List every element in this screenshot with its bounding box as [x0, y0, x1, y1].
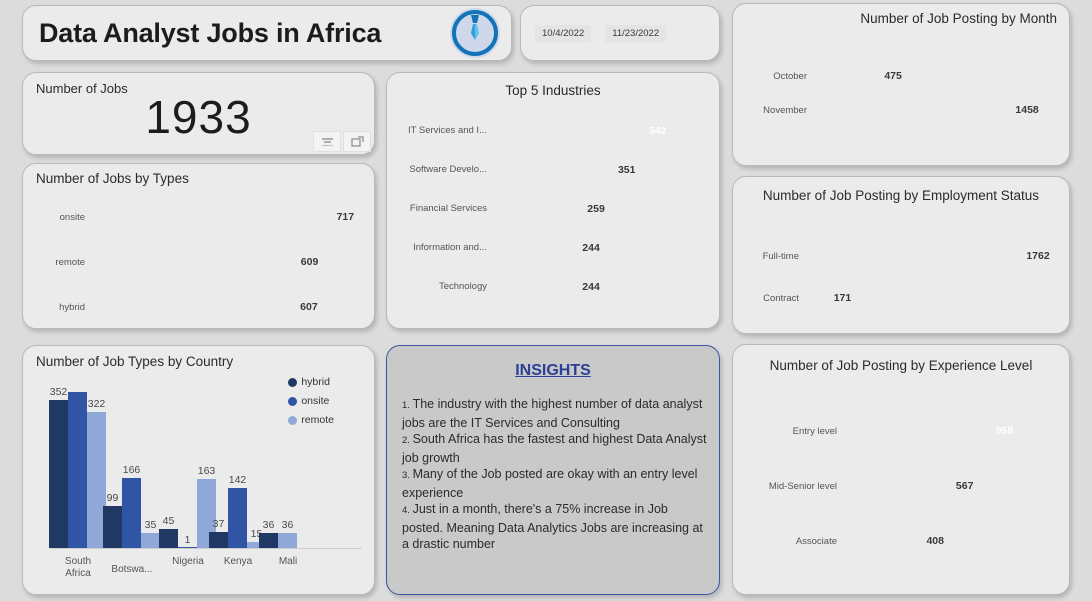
bar-row[interactable]: October475: [741, 62, 1057, 90]
bar-row[interactable]: Mid-Senior level567: [741, 467, 1055, 505]
bar-category-label: onsite: [33, 212, 92, 223]
chart-title: Number of Job Types by Country: [36, 354, 233, 369]
chart-card-job-types-by-country: Number of Job Types by Country hybridons…: [22, 345, 375, 595]
bar-track: 408: [844, 535, 1055, 547]
x-axis-tick-label: Botswa...: [101, 564, 163, 576]
bar-remote[interactable]: [141, 533, 160, 548]
bar-track: 244: [494, 242, 709, 254]
bar-track: 567: [844, 480, 1055, 492]
insight-text: Many of the Job posted are okay with an …: [402, 467, 697, 500]
bar-category-label: IT Services and I...: [395, 125, 494, 136]
x-axis-tick-label: Mali: [257, 556, 319, 568]
bar-category-label: Associate: [741, 536, 844, 547]
bar-category-label: Entry level: [741, 426, 844, 437]
bar-slot: 1: [178, 388, 197, 548]
bar-category-label: Information and...: [395, 242, 494, 253]
start-date-field[interactable]: 10/4/2022: [535, 25, 591, 42]
legend-color-swatch: [288, 378, 297, 387]
chart-plot-area: onsite717remote609hybrid607: [33, 201, 362, 336]
chart-title: Top 5 Industries: [387, 83, 719, 98]
insight-text: The industry with the highest number of …: [402, 397, 702, 430]
chart-title: Number of Job Posting by Employment Stat…: [733, 188, 1069, 203]
bar-slot: 45: [159, 388, 178, 548]
bar-value-label: 542: [649, 125, 667, 137]
bar-value-label: 958: [996, 425, 1014, 437]
insight-text: South Africa has the fastest and highest…: [402, 432, 707, 465]
bar-hybrid[interactable]: [259, 533, 278, 548]
bar-row[interactable]: Technology244: [395, 273, 709, 300]
bar-group: 3714215: [209, 388, 266, 548]
bar-value-label: 352: [50, 386, 68, 398]
bar-row[interactable]: Entry level958: [741, 412, 1055, 450]
chart-card-posting-by-employment-status: Number of Job Posting by Employment Stat…: [732, 176, 1070, 334]
bar-value-label: 35: [145, 519, 157, 531]
bar-category-label: Technology: [395, 281, 494, 292]
bar-slot: 352: [49, 388, 68, 548]
bar-hybrid[interactable]: [103, 506, 122, 548]
bar-track: 475: [814, 70, 1057, 82]
bar-slot: [68, 388, 87, 548]
chart-card-jobs-by-types: Number of Jobs by Types onsite717remote6…: [22, 163, 375, 329]
bar-group: 451163: [159, 388, 216, 548]
x-axis-tick-label: South Africa: [47, 556, 109, 580]
page-title: Data Analyst Jobs in Africa: [39, 18, 449, 49]
bar-value-label: 607: [293, 301, 318, 313]
chart-plot-area: Full-time1762Contract171: [741, 241, 1057, 325]
legend-label: remote: [301, 414, 334, 426]
bar-value-label: 717: [330, 211, 355, 223]
bar-row[interactable]: Financial Services259: [395, 195, 709, 222]
insight-number: 4.: [402, 505, 413, 516]
bar-slot: 36: [259, 388, 278, 548]
bar-row[interactable]: Contract171: [741, 283, 1057, 313]
insight-item: 2. South Africa has the fastest and high…: [402, 431, 707, 466]
bar-row[interactable]: onsite717: [33, 201, 362, 233]
bar-value-label: 99: [107, 492, 119, 504]
filter-icon[interactable]: [313, 131, 341, 152]
chart-title: Number of Jobs by Types: [36, 171, 189, 186]
insight-number: 3.: [402, 470, 413, 481]
kpi-card-number-of-jobs: Number of Jobs 1933: [22, 72, 375, 155]
bar-remote[interactable]: [278, 533, 297, 548]
bar-value-label: 1: [185, 534, 191, 546]
insight-number: 2.: [402, 435, 413, 446]
legend-label: hybrid: [301, 376, 330, 388]
bar-category-label: Financial Services: [395, 203, 494, 214]
bar-value-label: 567: [949, 480, 974, 492]
dashboard-title-card: Data Analyst Jobs in Africa: [22, 5, 512, 61]
bar-track: 1762: [806, 250, 1057, 262]
bar-row[interactable]: remote609: [33, 246, 362, 278]
bar-value-label: 1458: [1008, 104, 1038, 116]
bar-value-label: 36: [263, 519, 275, 531]
bar-category-label: Full-time: [741, 251, 806, 262]
bar-track: 609: [92, 256, 362, 268]
insight-item: 4. Just in a month, there's a 75% increa…: [402, 501, 707, 553]
chart-title: Number of Job Posting by Experience Leve…: [733, 358, 1069, 373]
kpi-card-actions: [313, 131, 371, 152]
bar-row[interactable]: hybrid607: [33, 291, 362, 323]
bar-value-label: 259: [580, 203, 605, 215]
chart-card-top-5-industries: Top 5 Industries IT Services and I...542…: [386, 72, 720, 329]
bar-track: 171: [806, 292, 1057, 304]
bar-category-label: Mid-Senior level: [741, 481, 844, 492]
chart-card-posting-by-month: Number of Job Posting by Month October47…: [732, 3, 1070, 166]
bar-category-label: November: [741, 105, 814, 116]
legend-label: onsite: [301, 395, 329, 407]
bar-hybrid[interactable]: [159, 529, 178, 548]
legend-item-hybrid[interactable]: hybrid: [288, 376, 334, 388]
bar-category-label: Software Develo...: [395, 164, 494, 175]
focus-mode-icon[interactable]: [343, 131, 371, 152]
bar-row[interactable]: Information and...244: [395, 234, 709, 261]
bar-value-label: 351: [611, 164, 636, 176]
bar-value-label: 408: [919, 535, 944, 547]
chart-plot-area: 352322991663545116337142153636: [49, 388, 289, 548]
bar-slot: 142: [228, 388, 247, 548]
bar-group: 3636: [259, 388, 297, 548]
insight-text: Just in a month, there's a 75% increase …: [402, 502, 703, 551]
bar-track: 259: [494, 203, 709, 215]
insight-number: 1.: [402, 400, 413, 411]
bar-onsite[interactable]: [122, 478, 141, 548]
insights-list: 1. The industry with the highest number …: [402, 396, 707, 553]
bar-row[interactable]: Software Develo...351: [395, 156, 709, 183]
bar-row[interactable]: IT Services and I...542: [395, 117, 709, 144]
bar-slot: 36: [278, 388, 297, 548]
bar-slot: 166: [122, 388, 141, 548]
dashboard-canvas: Data Analyst Jobs in Africa 10/4/2022 11…: [0, 0, 1092, 601]
bar-hybrid[interactable]: [209, 532, 228, 548]
chart-plot-area: Entry level958Mid-Senior level567Associa…: [741, 412, 1055, 577]
bar-onsite[interactable]: [228, 488, 247, 548]
bar-value-label: 609: [294, 256, 319, 268]
bar-track: 717: [92, 211, 362, 223]
chart-plot-area: IT Services and I...542Software Develo..…: [395, 117, 709, 312]
insight-item: 1. The industry with the highest number …: [402, 396, 707, 431]
bar-hybrid[interactable]: [49, 400, 68, 548]
necktie-circle-logo-icon: [449, 7, 501, 59]
bar-row[interactable]: Associate408: [741, 522, 1055, 560]
bar-value-label: 475: [877, 70, 902, 82]
bar-category-label: hybrid: [33, 302, 92, 313]
insight-item: 3. Many of the Job posted are okay with …: [402, 466, 707, 501]
bar-value-label: 37: [213, 518, 225, 530]
bar-slot: 37: [209, 388, 228, 548]
bar-row[interactable]: November1458: [741, 96, 1057, 124]
bar-value-label: 36: [282, 519, 294, 531]
bar-onsite[interactable]: [68, 392, 87, 548]
chart-title: Number of Job Posting by Month: [860, 11, 1057, 26]
bar-track: 244: [494, 281, 709, 293]
bar-value-label: 244: [575, 242, 600, 254]
bar-track: 351: [494, 164, 709, 176]
bar-value-label: 244: [575, 281, 600, 293]
bar-track: 1458: [814, 104, 1057, 116]
bar-slot: 35: [141, 388, 160, 548]
bar-category-label: remote: [33, 257, 92, 268]
chart-x-axis: [49, 548, 362, 549]
bar-group: 9916635: [103, 388, 160, 548]
bar-track: 607: [92, 301, 362, 313]
bar-category-label: October: [741, 71, 814, 82]
bar-group: 352322: [49, 388, 106, 548]
bar-value-label: 1762: [1019, 250, 1049, 262]
chart-plot-area: October475November1458: [741, 62, 1057, 130]
end-date-field[interactable]: 11/23/2022: [605, 25, 666, 42]
insights-panel: INSIGHTS 1. The industry with the highes…: [386, 345, 720, 595]
bar-value-label: 171: [827, 292, 852, 304]
date-filter-card[interactable]: 10/4/2022 11/23/2022: [520, 5, 720, 61]
bar-value-label: 142: [229, 474, 247, 486]
insights-title: INSIGHTS: [387, 362, 719, 380]
bar-value-label: 45: [163, 515, 175, 527]
bar-category-label: Contract: [741, 293, 806, 304]
chart-card-posting-by-experience-level: Number of Job Posting by Experience Leve…: [732, 344, 1070, 595]
bar-value-label: 166: [123, 464, 141, 476]
bar-row[interactable]: Full-time1762: [741, 241, 1057, 271]
bar-slot: 99: [103, 388, 122, 548]
